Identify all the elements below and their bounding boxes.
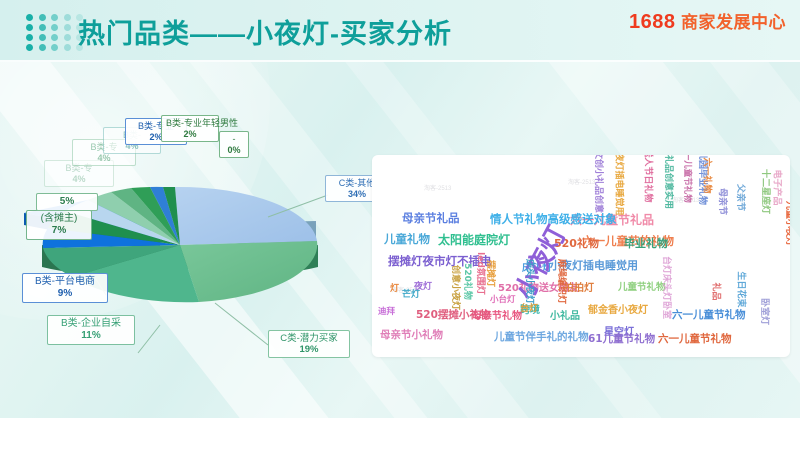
wordcloud-word[interactable]: 礼品 <box>711 282 724 300</box>
page-title: 热门品类——小夜灯-买家分析 <box>78 12 452 51</box>
pie-label-name: C类-其他 <box>339 178 376 188</box>
slide-canvas: 热门品类——小夜灯-买家分析 1688 商家发展中心 <box>0 0 800 450</box>
pie-label-c-potential[interactable]: C类-潜力买家 19% <box>268 330 350 358</box>
leader-line <box>215 303 268 345</box>
wordcloud-word[interactable]: 儿童礼物 <box>384 231 430 247</box>
pie-label-name: B类-平台电商 <box>35 276 95 287</box>
wordcloud-word[interactable]: 郁金香小夜灯 <box>588 301 648 316</box>
pie-label-pct: 11% <box>52 330 130 342</box>
header-divider <box>0 60 800 62</box>
wordcloud-word[interactable]: 毕业礼物 <box>624 235 668 251</box>
dot-grid-icon <box>26 14 86 50</box>
pie-label-name: (含摊主) <box>41 213 78 224</box>
pie-label-pct: 2% <box>166 129 214 140</box>
wordcloud-word[interactable]: 电子产品 <box>772 169 785 205</box>
wordcloud-word[interactable]: 芒灯 <box>402 287 420 300</box>
pie-label-b-2b[interactable]: B类-专业年轻男性 2% <box>161 115 219 142</box>
wordcloud-word[interactable]: 儿童小夜灯 <box>784 201 790 246</box>
wordcloud-word[interactable]: 儿童节伴手礼的礼物 <box>494 329 589 344</box>
wordcloud-word[interactable]: 床头小夜灯 <box>524 259 537 304</box>
wordcloud-word[interactable]: 卧室灯 <box>759 298 772 325</box>
pie-label-name: B类-企业自采 <box>61 318 121 329</box>
watermark: 淘客-2513 <box>424 183 451 192</box>
leader-line <box>138 325 160 353</box>
logo-number: 1688 <box>629 11 676 33</box>
wordcloud-word[interactable]: 生日花束 <box>736 271 749 307</box>
pie-label-pct: 19% <box>273 344 345 355</box>
wordcloud-word[interactable]: 摆摊灯 <box>485 260 498 287</box>
pie-label-name: - <box>233 134 236 144</box>
wordcloud-word[interactable]: 台灯床头灯卧室 <box>661 256 674 319</box>
wordcloud-word[interactable]: 520礼物 <box>462 263 475 300</box>
wordcloud-word[interactable]: 灯 <box>390 281 399 294</box>
pie-label-pct: 9% <box>27 288 103 300</box>
wordcloud-word[interactable]: 儿童节礼物 <box>618 279 666 293</box>
pie-label-pct: 4% <box>77 153 131 164</box>
wordcloud-word[interactable]: 小夜灯插电睡觉用 <box>614 155 627 216</box>
wordcloud-word[interactable]: 小礼品创意实用 <box>663 155 676 209</box>
pie-label-pct: 0% <box>224 145 244 156</box>
pie-label-enterprise[interactable]: B类-企业自采 11% <box>47 315 135 345</box>
wordcloud-word[interactable]: 送人节日礼物 <box>643 155 656 203</box>
wordcloud-word[interactable]: 母亲节 <box>717 188 730 215</box>
wordcloud-word[interactable]: 六一礼物 <box>702 157 715 193</box>
slide-footer-band <box>0 418 800 450</box>
wordcloud-word[interactable]: 母亲节小礼物 <box>380 327 443 342</box>
wordcloud-word[interactable]: 文创小礼品创意 <box>593 155 606 213</box>
wordcloud-word[interactable]: 小台灯 <box>490 293 516 305</box>
wordcloud-word[interactable]: 母亲节礼品 <box>402 210 460 226</box>
pie-label-platform-ecom[interactable]: B类-平台电商 9% <box>22 273 108 303</box>
wordcloud-word[interactable]: 小礼品 <box>550 307 580 322</box>
wordcloud-word[interactable]: 母亲节礼物 <box>472 307 522 322</box>
wordcloud-word[interactable]: 六一儿童节礼物 <box>658 331 732 346</box>
pie-label-name: C类-潜力买家 <box>280 333 338 344</box>
logo-text: 商家发展中心 <box>681 13 786 32</box>
watermark: 淘客-2513 <box>568 177 595 186</box>
wordcloud-word[interactable]: 六一儿童节礼物 <box>672 307 746 322</box>
pie-label-pct: 4% <box>49 174 109 185</box>
brand-logo: 1688 商家发展中心 <box>629 8 786 34</box>
pie-slice-c-other[interactable] <box>175 187 317 245</box>
wordcloud-word[interactable]: 六一儿童节礼物 <box>682 155 694 203</box>
wordcloud-word[interactable]: 太阳能庭院灯 <box>438 231 510 248</box>
pie-label-b-0[interactable]: - 0% <box>219 131 249 158</box>
wordcloud-word[interactable]: 61儿童节礼物 <box>588 331 655 346</box>
pie-label-pct: 7% <box>31 225 87 237</box>
pie-label-stall-owner[interactable]: (含摊主) 7% <box>26 210 92 240</box>
wordcloud-panel[interactable]: 淘客-2513 淘客-2513 淘客-2513 淘客-2513 母亲节礼品儿童礼… <box>372 155 790 357</box>
wordcloud-word[interactable]: 麻绳编织灯 <box>556 259 569 304</box>
wordcloud-word[interactable]: 父亲节 <box>735 184 748 211</box>
wordcloud-word[interactable]: 迪拜 <box>378 305 395 317</box>
pie-label-name: B类-专业年轻男性 <box>166 118 238 128</box>
pie-label-pct: 5% <box>41 196 93 208</box>
pie-label-b-5[interactable]: 5% <box>36 193 98 211</box>
pie-slice-c-potential[interactable] <box>180 241 317 302</box>
